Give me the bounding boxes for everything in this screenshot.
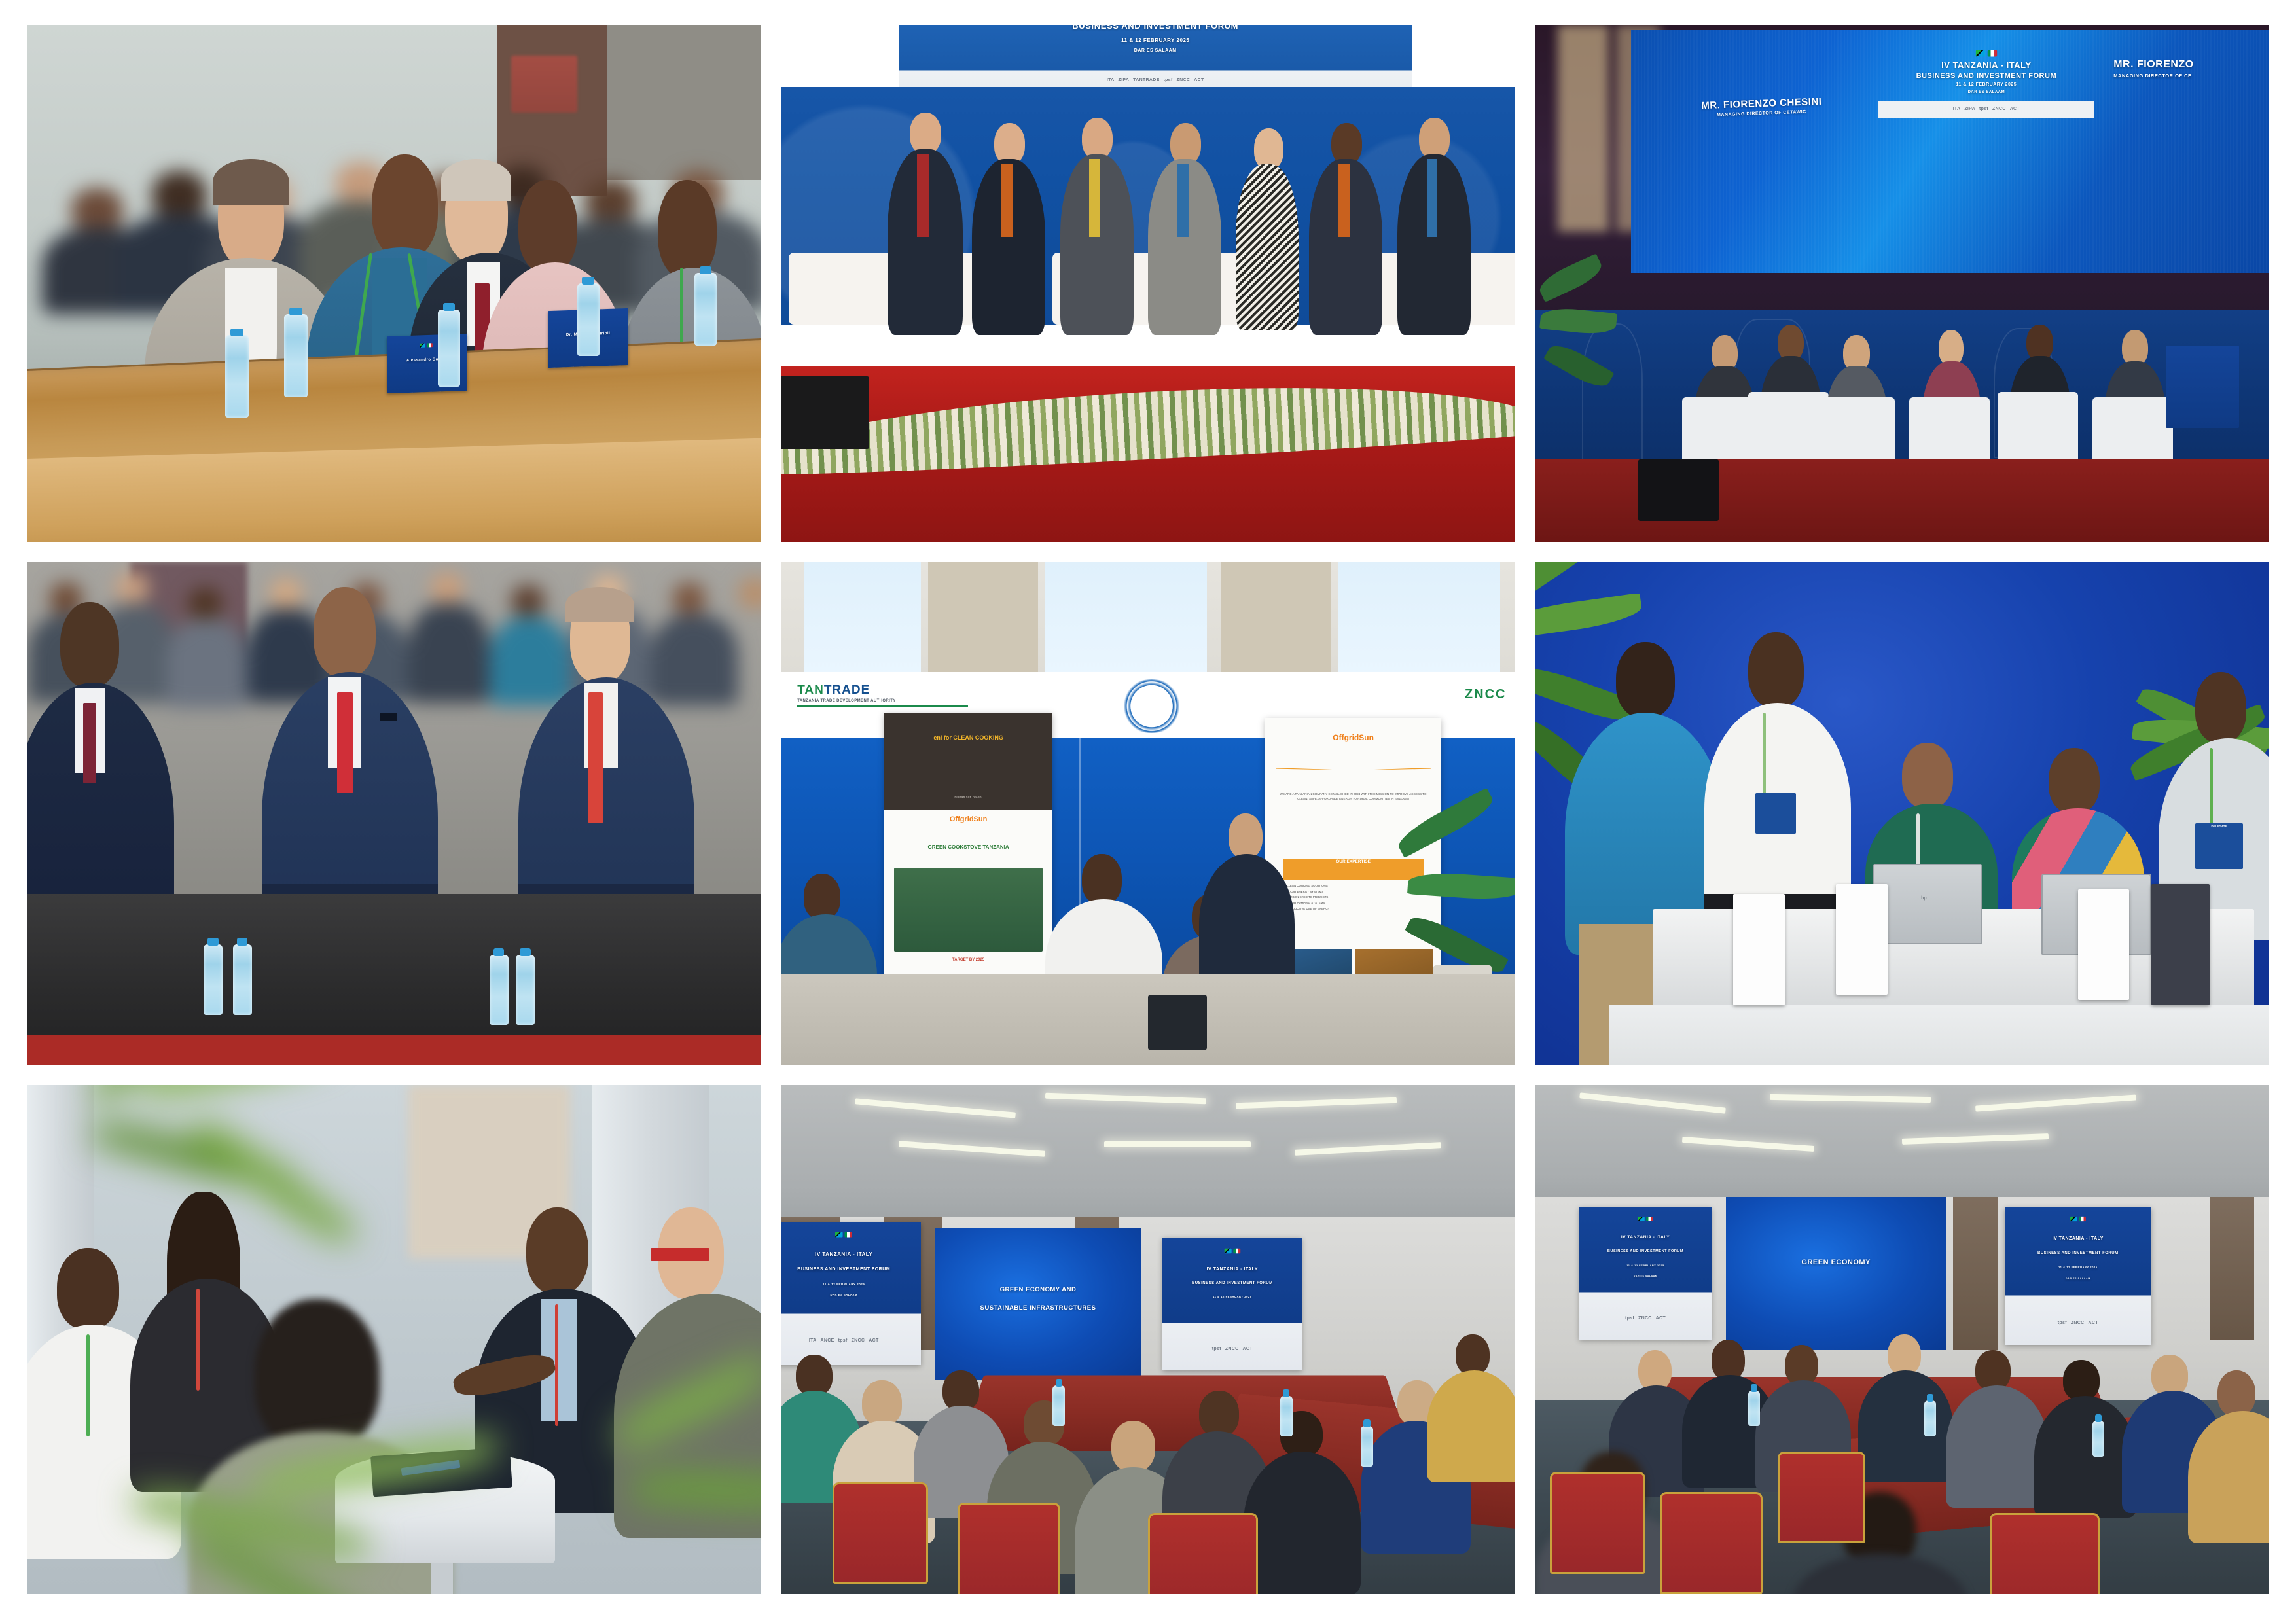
event-board-right: IV TANZANIA - ITALY BUSINESS AND INVESTM… xyxy=(2005,1207,2151,1345)
event-board-left: IV TANZANIA - ITALY BUSINESS AND INVESTM… xyxy=(1579,1207,1712,1340)
potted-palm xyxy=(1535,262,1631,428)
rollup2-heading: OUR EXPERTISE xyxy=(1283,859,1424,880)
leaflet-stand-1 xyxy=(1733,894,1784,1005)
rollup-tagline: nishati safi na eni xyxy=(884,796,1053,800)
scene-breakout-room-green-infra: IV TANZANIA - ITALY BUSINESS AND INVESTM… xyxy=(781,1085,1515,1594)
screen-title-line1: GREEN ECONOMY AND xyxy=(935,1286,1141,1293)
screen-speaker-role: MANAGING DIRECTOR OF CETAWIC xyxy=(1643,107,1878,121)
podium-nameplate xyxy=(2166,346,2239,428)
banner-dates: 11 & 12 FEBRUARY 2025 xyxy=(899,37,1412,43)
chair-1 xyxy=(1550,1472,1645,1574)
board-logo-strip: ITAANCEtpsfZNCCACT xyxy=(781,1319,918,1362)
chair-3 xyxy=(1778,1452,1865,1543)
scene-breakout-room-green-economy: IV TANZANIA - ITALY BUSINESS AND INVESTM… xyxy=(1535,1085,2269,1594)
laptop-brand-1: hp xyxy=(1921,896,1927,901)
floral-garland xyxy=(781,392,1515,459)
rollup2-company: OffgridSun xyxy=(1265,734,1441,741)
screen-right-role: MANAGING DIRECTOR OF CE xyxy=(2113,73,2269,79)
rollup-target: TARGET BY 2025 xyxy=(884,958,1053,962)
board9-dates: 11 & 12 FEBRUARY 2025 xyxy=(1579,1264,1712,1268)
screen9-title: GREEN ECONOMY xyxy=(1726,1258,1946,1267)
photo-cell-6[interactable]: DELEGATE hp hp xyxy=(1535,562,2269,1065)
photo-cell-1[interactable]: Alessandro Gallitzi Dr. Matteo Mandrioli xyxy=(27,25,761,542)
leaflet-stand-3 xyxy=(2078,889,2129,1000)
rollup-title: GREEN COOKSTOVE TANZANIA xyxy=(884,845,1053,850)
board9r-dates: 11 & 12 FEBRUARY 2025 xyxy=(2005,1266,2151,1270)
rollup-brand: eni for CLEAN COOKING xyxy=(884,734,1053,741)
stage-banner-top: BUSINESS AND INVESTMENT FORUM 11 & 12 FE… xyxy=(899,25,1412,92)
scene-networking-tables xyxy=(27,1085,761,1594)
board-right-subtitle: BUSINESS AND INVESTMENT FORUM xyxy=(1162,1281,1302,1286)
stage-monitor-speaker xyxy=(781,376,869,449)
board-title: IV TANZANIA - ITALY xyxy=(781,1251,921,1257)
photo-gallery-grid: Alessandro Gallitzi Dr. Matteo Mandrioli… xyxy=(0,0,2296,1623)
board9-subtitle: BUSINESS AND INVESTMENT FORUM xyxy=(1579,1249,1712,1254)
event-board-left: IV TANZANIA - ITALY BUSINESS AND INVESTM… xyxy=(781,1222,921,1365)
chair-4 xyxy=(1990,1513,2100,1594)
screen-title-line2: SUSTAINABLE INFRASTRUCTURES xyxy=(935,1304,1141,1311)
photo-cell-4[interactable] xyxy=(27,562,761,1065)
board9r-city: DAR ES SALAAM xyxy=(2005,1277,2151,1280)
rollup-company: OffgridSun xyxy=(884,816,1053,823)
screen-speaker-name: MR. FIORENZO CHESINI xyxy=(1643,94,1878,114)
chair-2 xyxy=(958,1503,1060,1594)
photo-cell-3[interactable]: MR. FIORENZO CHESINI MANAGING DIRECTOR O… xyxy=(1535,25,2269,542)
screen-logo-strip: ITAZIPAtpsfZNCCACT xyxy=(1878,101,2094,118)
led-screen-green-economy: GREEN ECONOMY xyxy=(1726,1197,1946,1349)
scene-led-panel-session: MR. FIORENZO CHESINI MANAGING DIRECTOR O… xyxy=(1535,25,2269,542)
cookstove-unit xyxy=(1148,995,1207,1050)
palm-right-foreground xyxy=(555,1400,761,1594)
photo-cell-7[interactable] xyxy=(27,1085,761,1594)
scene-registration-desk: DELEGATE hp hp xyxy=(1535,562,2269,1065)
board-subtitle: BUSINESS AND INVESTMENT FORUM xyxy=(781,1267,921,1272)
board-right-title: IV TANZANIA - ITALY xyxy=(1162,1267,1302,1272)
banner-logo-strip: ITAZIPATANTRADEtpsfZNCCACT xyxy=(929,73,1381,88)
flag-tanzania xyxy=(1976,50,1985,56)
board-right-dates: 11 & 12 FEBRUARY 2025 xyxy=(1162,1296,1302,1299)
led-screen: MR. FIORENZO CHESINI MANAGING DIRECTOR O… xyxy=(1631,30,2269,273)
banner-subtitle: BUSINESS AND INVESTMENT FORUM xyxy=(899,25,1412,31)
led-screen-session: GREEN ECONOMY AND SUSTAINABLE INFRASTRUC… xyxy=(935,1228,1141,1380)
board9-logo-strip: tpsfZNCCACT xyxy=(1582,1300,1709,1337)
leaflet-stand-4 xyxy=(2151,884,2210,1005)
tantrade-sub: TANZANIA TRADE DEVELOPMENT AUTHORITY xyxy=(797,699,996,703)
screen-event-subtitle: BUSINESS AND INVESTMENT FORUM xyxy=(1878,72,2094,80)
board-city: DAR ES SALAAM xyxy=(781,1294,921,1297)
laptop-1[interactable]: hp xyxy=(1873,864,1982,944)
board9r-subtitle: BUSINESS AND INVESTMENT FORUM xyxy=(2005,1251,2151,1256)
palm-foreground-bottom xyxy=(115,1462,526,1594)
chair-3 xyxy=(1148,1513,1258,1594)
scene-exhibition-booth: TANTRADE TANZANIA TRADE DEVELOPMENT AUTH… xyxy=(781,562,1515,1065)
red-eyeglasses xyxy=(651,1248,709,1261)
badge-delegate: DELEGATE xyxy=(2195,823,2243,868)
rollup2-body: WE ARE A TANZANIAN COMPANY ESTABLISHED I… xyxy=(1276,793,1431,802)
screen-right-name: MR. FIORENZO xyxy=(2113,59,2269,71)
photo-cell-2[interactable]: BUSINESS AND INVESTMENT FORUM 11 & 12 FE… xyxy=(781,25,1515,542)
front-display-table xyxy=(1609,1005,2269,1065)
tccia-logo xyxy=(1117,679,1186,733)
board9-title: IV TANZANIA - ITALY xyxy=(1579,1235,1712,1240)
board-dates: 11 & 12 FEBRUARY 2025 xyxy=(781,1283,921,1286)
board9r-title: IV TANZANIA - ITALY xyxy=(2005,1236,2151,1241)
screen-event-dates: 11 & 12 FEBRUARY 2025 xyxy=(1878,82,2094,88)
photo-cell-5[interactable]: TANTRADE TANZANIA TRADE DEVELOPMENT AUTH… xyxy=(781,562,1515,1065)
lanyard-red xyxy=(588,692,603,823)
banner-city: DAR ES SALAAM xyxy=(899,48,1412,54)
zncc-logo: ZNCC xyxy=(1465,688,1507,701)
board9r-logo-strip: tpsfZNCCACT xyxy=(2007,1304,2148,1342)
screen-event-title: IV TANZANIA - ITALY xyxy=(1878,60,2094,70)
scene-stage-lineup: BUSINESS AND INVESTMENT FORUM 11 & 12 FE… xyxy=(781,25,1515,542)
photo-cell-9[interactable]: IV TANZANIA - ITALY BUSINESS AND INVESTM… xyxy=(1535,1085,2269,1594)
scene-auditorium-audience: Alessandro Gallitzi Dr. Matteo Mandrioli xyxy=(27,25,761,542)
stage-speaker-monitor xyxy=(1638,459,1719,522)
flag-italy xyxy=(1988,50,1997,56)
scene-standing-officials xyxy=(27,562,761,1065)
photo-cell-8[interactable]: IV TANZANIA - ITALY BUSINESS AND INVESTM… xyxy=(781,1085,1515,1594)
board-right-logo-strip: tpsfZNCCACT xyxy=(1166,1330,1299,1368)
event-board-right: IV TANZANIA - ITALY BUSINESS AND INVESTM… xyxy=(1162,1238,1302,1370)
screen-event-city: DAR ES SALAAM xyxy=(1878,90,2094,95)
chair-2 xyxy=(1660,1492,1763,1594)
leaflet-stand-2 xyxy=(1836,884,1887,995)
chair-1 xyxy=(833,1482,928,1584)
badge-1 xyxy=(1755,793,1796,834)
board9-city: DAR ES SALAAM xyxy=(1579,1275,1712,1277)
